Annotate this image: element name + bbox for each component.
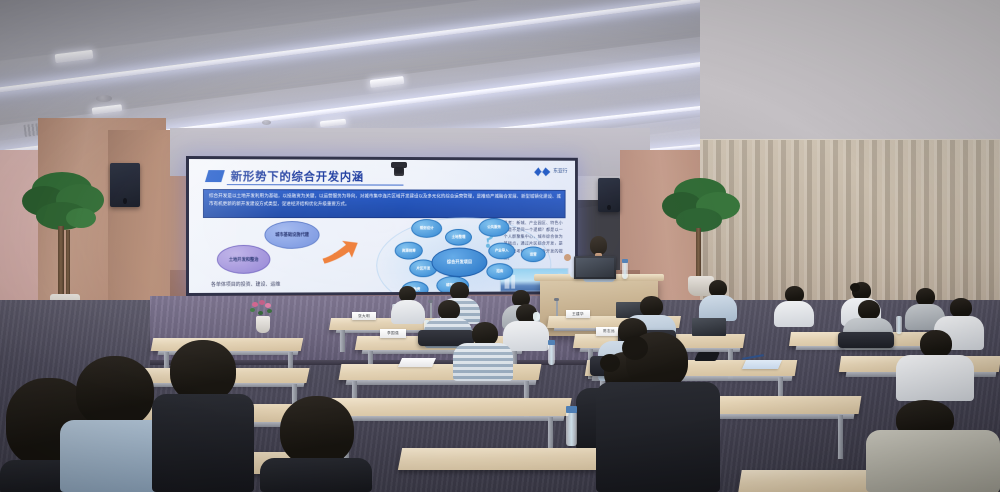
satellite-label: 片区开发 [416,266,430,270]
attendee-foreground [596,332,720,492]
satellite-label: 规划设计 [420,226,434,230]
diagram-satellite-node: 规划设计 [411,219,442,238]
face-mask [533,312,540,321]
satellite-label: 产业导入 [495,249,509,253]
chair [838,332,894,348]
name-card: 王建华 [566,310,590,318]
hair-bun [850,283,860,292]
attendee-torso [152,394,254,492]
attendee-head [280,396,354,466]
paper-sheet [742,360,782,369]
diagram-left-caption: 各单体项目的投资、建设、运维 [211,281,280,288]
bottle-cap [622,259,628,263]
orange-arrow-icon [321,239,360,265]
attendee-head [920,330,952,358]
attendee-torso [896,355,974,401]
satellite-label: 运营 [530,252,537,256]
ceiling-soffit-right [700,0,1000,150]
projection-screen: 新形势下的综合开发内涵 东亚行 综合开发是以土地开发利用为基础，以投融资为关键，… [186,156,578,296]
attendee-head [76,356,154,428]
name-card-text: 张大明 [358,314,370,319]
bottle-cap [548,340,555,345]
attendee [448,322,518,378]
slide-heading: 新形势下的综合开发内涵 [231,168,364,184]
desk-leg [340,330,345,352]
attendee-torso [260,458,372,492]
attendee [772,286,816,326]
attendee-head [640,296,663,317]
attendee-torso [596,382,720,492]
diagram-node-label: 城市基础设施代建 [275,232,309,237]
podium-laptop-screen [576,258,614,277]
conference-room-photo: 新形势下的综合开发内涵 东亚行 综合开发是以土地开发利用为基础，以投融资为关键，… [0,0,1000,492]
slide-logo: 东亚行 [534,167,567,176]
vase-body [256,316,270,333]
slide-banner: 综合开发是以土地开发利用为基础，以投融资为关键，以运营服务为导向，对城市集中连片… [203,189,566,218]
name-card-text: 王建华 [572,312,584,317]
desk-leg [838,415,843,459]
name-card: 张大明 [352,312,376,320]
presenter-hand [564,254,571,261]
diagram-node-land-development: 土地开发和整治 [217,245,270,274]
flower-vase [250,300,276,338]
diagram-satellite-node: 产业导入 [488,243,515,260]
slide-banner-text: 综合开发是以土地开发利用为基础，以投融资为关键，以运营服务为导向，对城市集中连片… [209,192,561,208]
attendee [698,280,738,320]
company-logo-icon [534,167,550,176]
core-node-label: 综合开发项目 [447,260,472,265]
slide-bullet-diamond-icon [205,170,225,182]
water-bottle [548,344,555,365]
satellite-label: 招商 [496,269,503,273]
attendee-foreground [258,396,374,492]
attendee-torso [774,301,814,327]
smoke-detector [96,95,112,102]
wall-speaker-left [110,163,140,207]
bottle-cap [566,406,577,413]
paper-sheet [398,358,436,367]
hair-bun [622,336,648,360]
name-card: 李国强 [380,329,406,338]
diagram-satellite-node: 运营 [521,247,546,263]
attendee-head [950,298,972,318]
satellite-label: 资源统筹 [402,248,416,252]
attendee-head [170,340,236,402]
company-logo-text: 东亚行 [553,169,567,174]
diagram-satellite-node: 资源统筹 [395,242,423,260]
microphone-stem [556,300,558,316]
smoke-detector [262,120,271,125]
diagram-satellite-node: 土地整理 [445,229,472,246]
name-card-text: 李国强 [387,331,399,336]
diagram-satellite-node: 招商 [486,263,513,280]
attendee-torso [866,430,1000,492]
diagram-core-node: 综合开发项目 [432,248,488,278]
diagram-node-label: 土地开发和整治 [229,257,259,262]
diagram-satellite-node: 公共服务 [479,218,510,237]
diagram-node-infrastructure: 城市基础设施代建 [264,221,319,249]
water-bottle [622,262,628,279]
attendee-torso [453,343,513,381]
attendee-head [858,300,880,320]
satellite-label: 土地整理 [452,235,466,239]
attendee-head [438,300,460,320]
water-bottle [566,412,577,446]
attendee [890,330,980,400]
wall-speaker-right [598,178,620,212]
microphone-head [554,298,559,301]
satellite-label: 公共服务 [487,225,501,229]
ceiling-camera-icon [394,167,404,176]
potted-plant-left [22,168,108,320]
attendee-foreground [866,400,1000,492]
attendee-foreground [152,340,256,492]
slide-surface: 新形势下的综合开发内涵 东亚行 综合开发是以土地开发利用为基础，以投融资为关键，… [189,159,575,293]
